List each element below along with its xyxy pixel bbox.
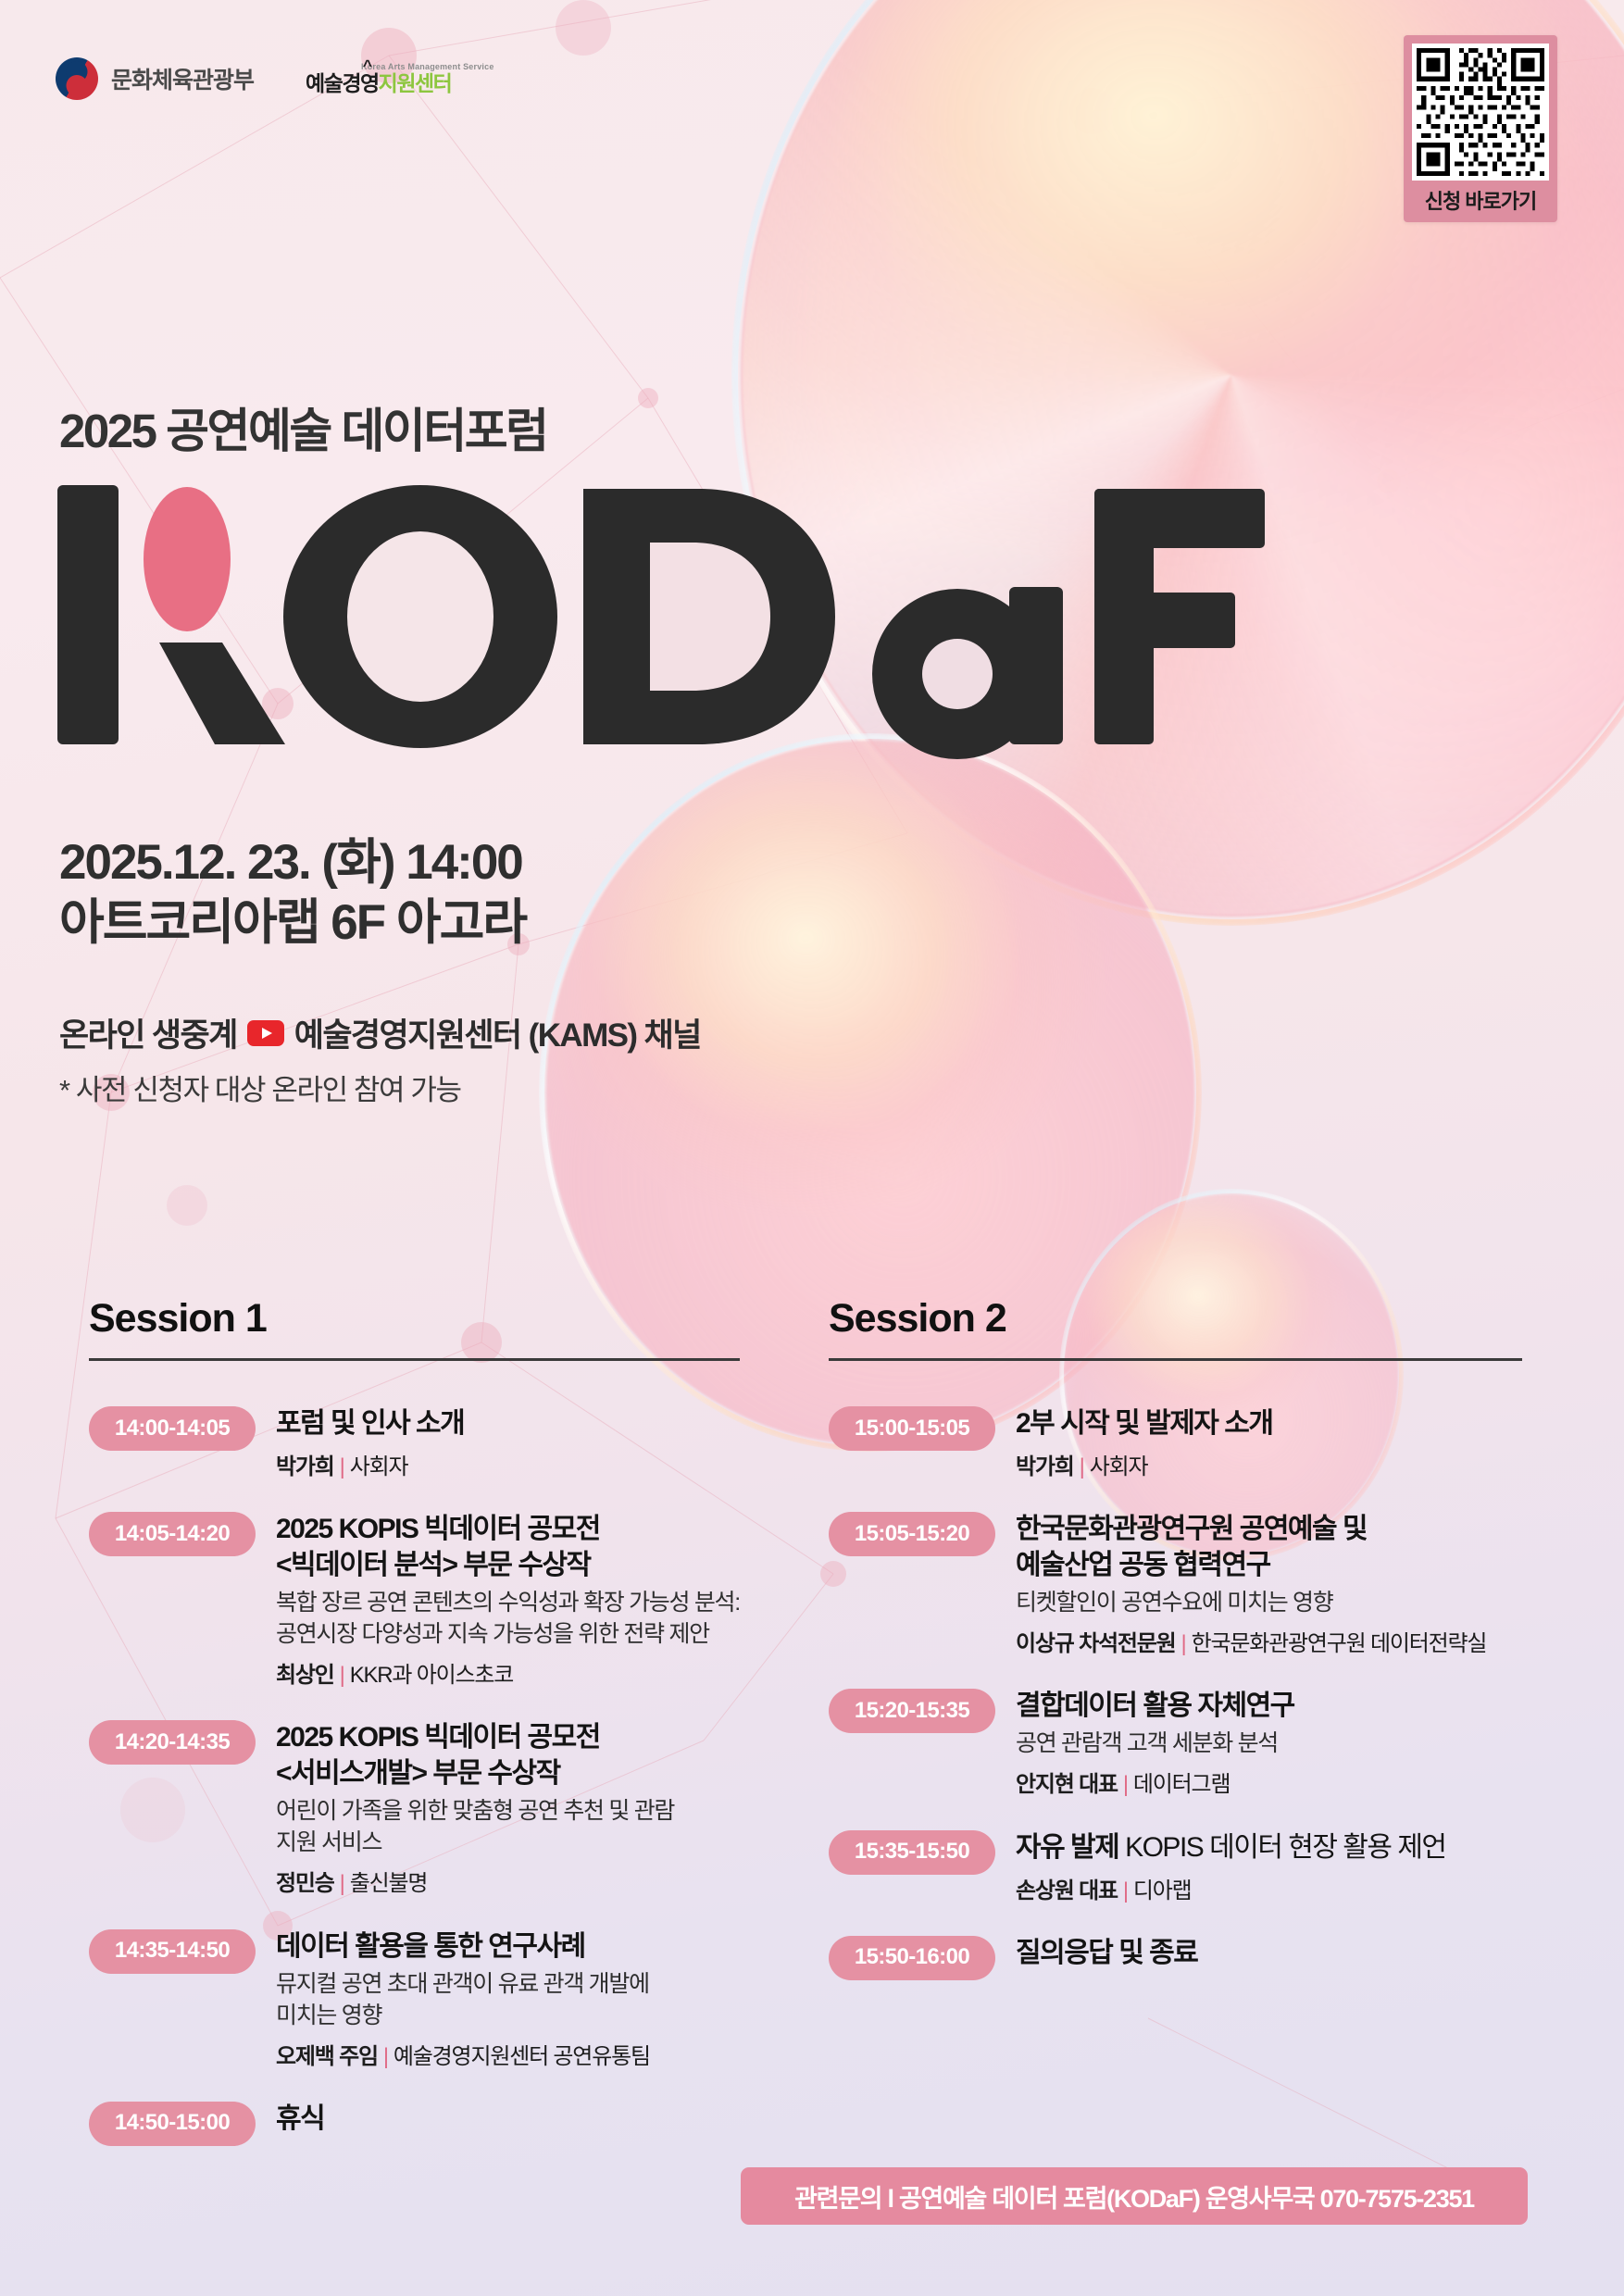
agenda-heading: 질의응답 및 종료 [1016,1935,1522,1971]
agenda-speaker: 박가희|사회자 [1016,1453,1522,1481]
event-datetime: 2025.12. 23. (화) 14:00 아트코리아랩 6F 아고라 [59,833,526,953]
speaker-separator: | [1176,1631,1192,1656]
agenda-time-badge: 15:35-15:50 [829,1830,995,1875]
agenda-speaker-affiliation: 데이터그램 [1133,1772,1230,1797]
poster-canvas: 문화체육관광부 ^ Korea Arts Management Service … [0,0,1624,2296]
agenda-speaker-name: 박가희 [276,1454,334,1479]
agenda-row: 14:50-15:00 휴식 [89,2099,740,2146]
speaker-separator: | [1118,1772,1133,1797]
kams-logo-korean-2: 지원센터 [379,71,452,95]
agenda-speaker-name: 정민승 [276,1871,334,1896]
event-kicker-title: 2025 공연예술 데이터포럼 [59,393,547,461]
agenda-heading: 결합데이터 활용 자체연구 [1016,1688,1522,1724]
agenda-row: 15:35-15:50 자유 발제 KOPIS 데이터 현장 활용 제언 손상원… [829,1828,1522,1905]
agenda-body: 한국문화관광연구원 공연예술 및예술산업 공동 협력연구 티켓할인이 공연수요에… [1016,1509,1522,1658]
agenda-time-badge: 15:50-16:00 [829,1936,995,1980]
speaker-separator: | [1074,1454,1090,1479]
speaker-separator: | [334,1663,350,1688]
session-column-1: Session 1 14:00-14:05 포럼 및 인사 소개 박가희|사회자… [0,1296,812,2174]
agenda-row: 14:00-14:05 포럼 및 인사 소개 박가희|사회자 [89,1404,740,1481]
agenda-time-badge: 14:35-14:50 [89,1929,256,1974]
agenda-subtitle: 어린이 가족을 위한 맞춤형 공연 추천 및 관람지원 서비스 [276,1795,740,1858]
kams-caret-icon: ^ [363,57,372,73]
session-2-title: Session 2 [829,1296,1522,1341]
kams-logo-korean: 예술경영지원센터 [306,73,494,94]
agenda-time-badge: 15:00-15:05 [829,1406,995,1451]
qr-registration-box[interactable]: 신청 바로가기 [1404,35,1557,222]
agenda-speaker: 박가희|사회자 [276,1453,740,1481]
session-columns: Session 1 14:00-14:05 포럼 및 인사 소개 박가희|사회자… [0,1296,1624,2174]
agenda-speaker-affiliation: 디아랩 [1133,1878,1192,1903]
agenda-subtitle: 복합 장르 공연 콘텐츠의 수익성과 확장 가능성 분석:공연시장 다양성과 지… [276,1587,740,1650]
ministry-logo: 문화체육관광부 [56,57,254,100]
speaker-separator: | [1118,1878,1133,1903]
agenda-speaker-affiliation: 출신불명 [350,1871,428,1896]
agenda-body: 데이터 활용을 통한 연구사례 뮤지컬 공연 초대 관객이 유료 관객 개발에미… [276,1927,740,2071]
qr-code-icon[interactable] [1412,44,1549,181]
agenda-body: 2025 KOPIS 빅데이터 공모전<빅데이터 분석> 부문 수상작 복합 장… [276,1509,740,1690]
agenda-speaker-name: 최상인 [276,1663,334,1688]
agenda-subtitle: 티켓할인이 공연수요에 미치는 영향 [1016,1587,1522,1618]
agenda-speaker: 손상원 대표|디아랩 [1016,1877,1522,1905]
stream-note: * 사전 신청자 대상 온라인 참여 가능 [59,1067,461,1108]
kams-logo: ^ Korea Arts Management Service 예술경영지원센터 [306,63,494,94]
header-logos: 문화체육관광부 ^ Korea Arts Management Service … [56,57,494,100]
agenda-speaker-affiliation: KKR과 아이스초코 [350,1663,514,1688]
session-2-rows: 15:00-15:05 2부 시작 및 발제자 소개 박가희|사회자 15:05… [829,1404,1522,1980]
speaker-separator: | [378,2044,394,2069]
agenda-time-badge: 14:05-14:20 [89,1512,256,1556]
agenda-body: 2부 시작 및 발제자 소개 박가희|사회자 [1016,1404,1522,1481]
agenda-heading: 데이터 활용을 통한 연구사례 [276,1928,740,1965]
kams-logo-english: Korea Arts Management Service [361,63,494,71]
agenda-subtitle: 공연 관람객 고객 세분화 분석 [1016,1728,1522,1759]
agenda-row: 15:20-15:35 결합데이터 활용 자체연구 공연 관람객 고객 세분화 … [829,1686,1522,1799]
agenda-heading: 휴식 [276,2101,740,2137]
session-2-divider [829,1358,1522,1361]
contact-bar: 관련문의 l 공연예술 데이터 포럼(KODaF) 운영사무국 070-7575… [741,2167,1528,2225]
agenda-speaker-affiliation: 사회자 [350,1454,408,1479]
session-column-2: Session 2 15:00-15:05 2부 시작 및 발제자 소개 박가희… [812,1296,1624,2174]
session-1-divider [89,1358,740,1361]
agenda-heading-main: 자유 발제 [1016,1832,1118,1863]
agenda-row: 15:05-15:20 한국문화관광연구원 공연예술 및예술산업 공동 협력연구… [829,1509,1522,1658]
agenda-body: 2025 KOPIS 빅데이터 공모전<서비스개발> 부문 수상작 어린이 가족… [276,1717,740,1898]
agenda-heading: 자유 발제 KOPIS 데이터 현장 활용 제언 [1016,1829,1522,1865]
kams-logo-korean-1: 예술경영 [306,71,379,95]
agenda-heading: 2부 시작 및 발제자 소개 [1016,1405,1522,1441]
agenda-speaker-name: 안지현 대표 [1016,1772,1118,1797]
agenda-time-badge: 15:20-15:35 [829,1689,995,1733]
agenda-speaker-name: 박가희 [1016,1454,1074,1479]
session-1-title: Session 1 [89,1296,740,1341]
agenda-speaker-name: 오제백 주임 [276,2044,378,2069]
stream-prefix-label: 온라인 생중계 [59,1009,237,1056]
agenda-row: 14:20-14:35 2025 KOPIS 빅데이터 공모전<서비스개발> 부… [89,1717,740,1898]
ministry-logo-label: 문화체육관광부 [111,62,254,95]
event-venue-line: 아트코리아랩 6F 아고라 [59,893,526,954]
agenda-body: 휴식 [276,2099,740,2146]
event-date-line: 2025.12. 23. (화) 14:00 [59,835,522,890]
agenda-row: 15:00-15:05 2부 시작 및 발제자 소개 박가희|사회자 [829,1404,1522,1481]
agenda-time-badge: 14:00-14:05 [89,1406,256,1451]
agenda-row: 14:35-14:50 데이터 활용을 통한 연구사례 뮤지컬 공연 초대 관객… [89,1927,740,2071]
agenda-time-badge: 15:05-15:20 [829,1512,995,1556]
agenda-speaker-name: 손상원 대표 [1016,1878,1118,1903]
agenda-subtitle: 뮤지컬 공연 초대 관객이 유료 관객 개발에미치는 영향 [276,1968,740,2031]
agenda-body: 질의응답 및 종료 [1016,1933,1522,1980]
agenda-speaker: 이상규 차석전문원|한국문화관광연구원 데이터전략실 [1016,1629,1522,1658]
speaker-separator: | [334,1454,350,1479]
agenda-body: 포럼 및 인사 소개 박가희|사회자 [276,1404,740,1481]
agenda-heading: 2025 KOPIS 빅데이터 공모전<서비스개발> 부문 수상작 [276,1719,740,1791]
agenda-time-badge: 14:20-14:35 [89,1720,256,1765]
taegeuk-icon [56,57,98,100]
agenda-heading: 한국문화관광연구원 공연예술 및예술산업 공동 협력연구 [1016,1511,1522,1583]
agenda-heading: 포럼 및 인사 소개 [276,1405,740,1441]
agenda-speaker-affiliation: 한국문화관광연구원 데이터전략실 [1192,1631,1487,1656]
agenda-body: 결합데이터 활용 자체연구 공연 관람객 고객 세분화 분석 안지현 대표|데이… [1016,1686,1522,1799]
agenda-heading: 2025 KOPIS 빅데이터 공모전<빅데이터 분석> 부문 수상작 [276,1511,740,1583]
agenda-row: 14:05-14:20 2025 KOPIS 빅데이터 공모전<빅데이터 분석>… [89,1509,740,1690]
agenda-speaker: 안지현 대표|데이터그램 [1016,1770,1522,1799]
qr-label[interactable]: 신청 바로가기 [1412,181,1549,217]
agenda-speaker-affiliation: 사회자 [1090,1454,1148,1479]
agenda-speaker: 정민승|출신불명 [276,1869,740,1898]
online-stream-line: 온라인 생중계 예술경영지원센터 (KAMS) 채널 [59,1009,701,1056]
kodaf-wordmark [50,478,1291,774]
agenda-body: 자유 발제 KOPIS 데이터 현장 활용 제언 손상원 대표|디아랩 [1016,1828,1522,1905]
agenda-speaker-name: 이상규 차석전문원 [1016,1631,1176,1656]
agenda-speaker: 오제백 주임|예술경영지원센터 공연유통팀 [276,2042,740,2071]
agenda-heading-secondary: KOPIS 데이터 현장 활용 제언 [1118,1832,1445,1863]
session-1-rows: 14:00-14:05 포럼 및 인사 소개 박가희|사회자 14:05-14:… [89,1404,740,2146]
agenda-speaker-affiliation: 예술경영지원센터 공연유통팀 [394,2044,650,2069]
speaker-separator: | [334,1871,350,1896]
youtube-icon [247,1020,284,1046]
agenda-row: 15:50-16:00 질의응답 및 종료 [829,1933,1522,1980]
agenda-time-badge: 14:50-15:00 [89,2102,256,2146]
stream-channel-label: 예술경영지원센터 (KAMS) 채널 [294,1009,701,1056]
agenda-speaker: 최상인|KKR과 아이스초코 [276,1661,740,1690]
